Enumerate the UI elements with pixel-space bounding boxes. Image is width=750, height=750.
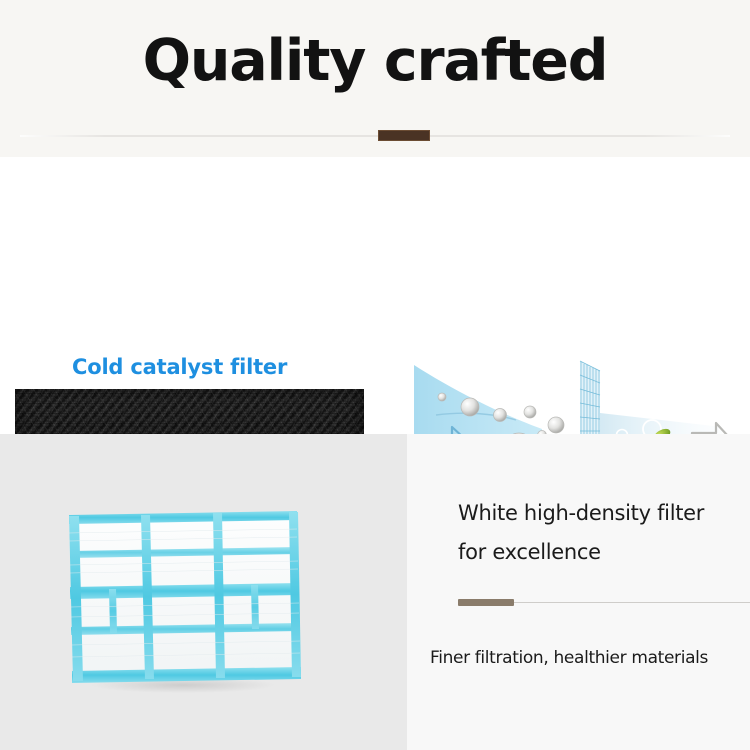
white-filter-image-panel	[0, 434, 407, 750]
white-filter-title-line-1: White high-density filter	[458, 494, 704, 533]
white-filter-title: White high-density filter for excellence	[458, 494, 704, 572]
white-filter-title-line-2: for excellence	[458, 533, 704, 572]
marketing-page: Quality crafted Cold catalyst filter	[0, 0, 750, 750]
white-filter-text-panel	[407, 434, 750, 750]
white-filter-accent-bar	[458, 599, 514, 606]
page-header: Quality crafted	[0, 0, 750, 157]
page-title: Quality crafted	[0, 32, 750, 92]
header-accent-bar	[378, 130, 430, 141]
cold-catalyst-section: Cold catalyst filter	[0, 157, 750, 434]
white-high-density-filter-image	[55, 507, 310, 697]
white-filter-section	[0, 434, 750, 750]
header-divider	[20, 135, 730, 137]
white-filter-caption: Finer filtration, healthier materials	[430, 648, 708, 668]
cold-catalyst-title: Cold catalyst filter	[72, 355, 287, 379]
